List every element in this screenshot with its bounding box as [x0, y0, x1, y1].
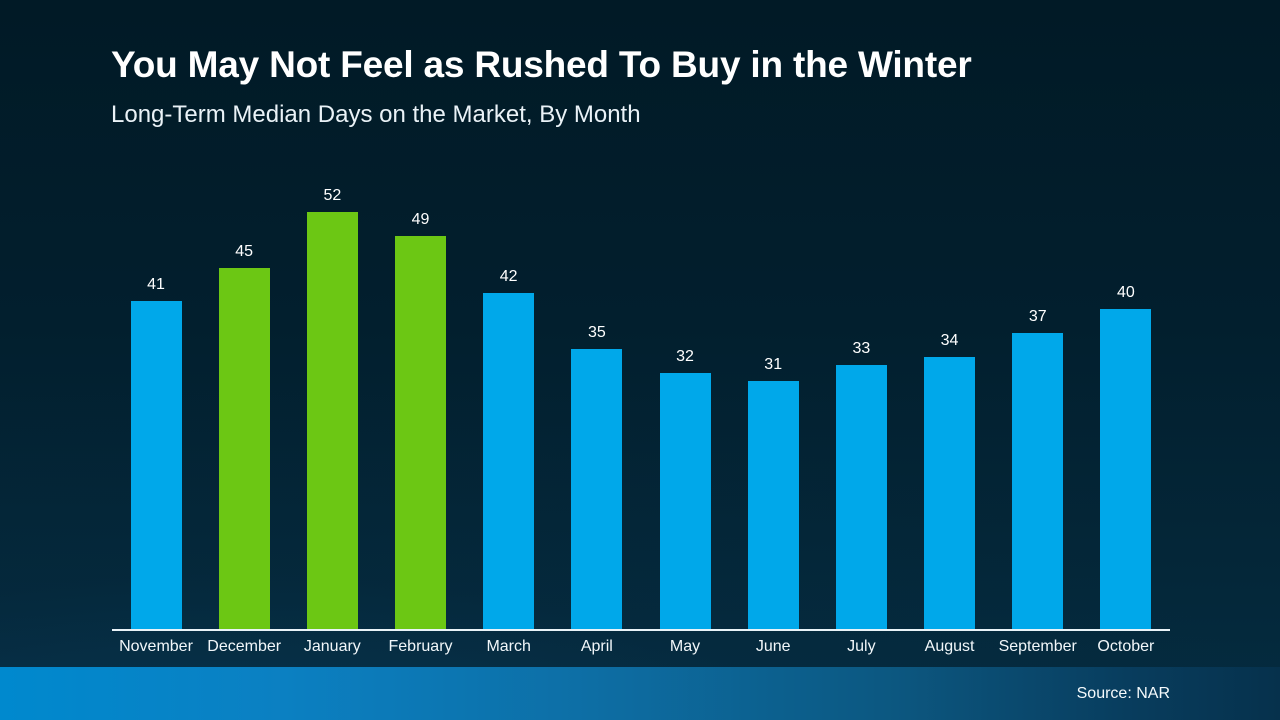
slide-canvas: You May Not Feel as Rushed To Buy in the… — [0, 0, 1280, 720]
x-label-may: May — [641, 638, 729, 656]
x-label-january: January — [288, 638, 376, 656]
source-attribution: Source: NAR — [1077, 685, 1170, 703]
bar-rect[interactable] — [395, 236, 446, 631]
bar-rect[interactable] — [483, 293, 534, 631]
x-label-october: October — [1082, 638, 1170, 656]
x-label-november: November — [112, 638, 200, 656]
bar-series: 414552494235323133343740 — [112, 170, 1170, 631]
bar-value-label: 42 — [500, 269, 518, 285]
footer-band: Source: NAR — [0, 667, 1280, 720]
bar-value-label: 35 — [588, 325, 606, 341]
bar-rect[interactable] — [219, 268, 270, 631]
x-label-february: February — [377, 638, 465, 656]
bar-january[interactable]: 52 — [288, 170, 376, 631]
x-axis-line — [112, 629, 1170, 631]
bar-july[interactable]: 33 — [817, 170, 905, 631]
bar-value-label: 31 — [764, 357, 782, 373]
bar-value-label: 34 — [941, 333, 959, 349]
x-axis-tick-labels: NovemberDecemberJanuaryFebruaryMarchApri… — [112, 638, 1170, 656]
bar-rect[interactable] — [571, 349, 622, 631]
chart-subtitle: Long-Term Median Days on the Market, By … — [111, 101, 972, 130]
bar-august[interactable]: 34 — [906, 170, 994, 631]
bar-december[interactable]: 45 — [200, 170, 288, 631]
bar-april[interactable]: 35 — [553, 170, 641, 631]
bar-rect[interactable] — [924, 357, 975, 631]
bar-rect[interactable] — [660, 373, 711, 631]
bar-value-label: 41 — [147, 277, 165, 293]
bar-rect[interactable] — [131, 301, 182, 631]
x-label-september: September — [994, 638, 1082, 656]
bar-rect[interactable] — [836, 365, 887, 631]
bar-value-label: 49 — [412, 212, 430, 228]
bar-rect[interactable] — [1012, 333, 1063, 631]
chart-header: You May Not Feel as Rushed To Buy in the… — [111, 44, 972, 129]
bar-value-label: 33 — [852, 341, 870, 357]
bar-chart-plot-area: 414552494235323133343740 — [112, 170, 1170, 631]
x-label-december: December — [200, 638, 288, 656]
x-label-june: June — [729, 638, 817, 656]
bar-february[interactable]: 49 — [377, 170, 465, 631]
page-title: You May Not Feel as Rushed To Buy in the… — [111, 44, 972, 87]
x-label-march: March — [465, 638, 553, 656]
bar-value-label: 37 — [1029, 309, 1047, 325]
bar-september[interactable]: 37 — [994, 170, 1082, 631]
bar-may[interactable]: 32 — [641, 170, 729, 631]
bar-value-label: 32 — [676, 349, 694, 365]
bar-march[interactable]: 42 — [465, 170, 553, 631]
x-label-july: July — [817, 638, 905, 656]
bar-value-label: 52 — [323, 188, 341, 204]
x-label-april: April — [553, 638, 641, 656]
x-label-august: August — [906, 638, 994, 656]
bar-october[interactable]: 40 — [1082, 170, 1170, 631]
bar-november[interactable]: 41 — [112, 170, 200, 631]
bar-rect[interactable] — [748, 381, 799, 631]
bar-value-label: 45 — [235, 244, 253, 260]
bar-value-label: 40 — [1117, 285, 1135, 301]
bar-rect[interactable] — [307, 212, 358, 631]
bar-rect[interactable] — [1100, 309, 1151, 631]
bar-june[interactable]: 31 — [729, 170, 817, 631]
